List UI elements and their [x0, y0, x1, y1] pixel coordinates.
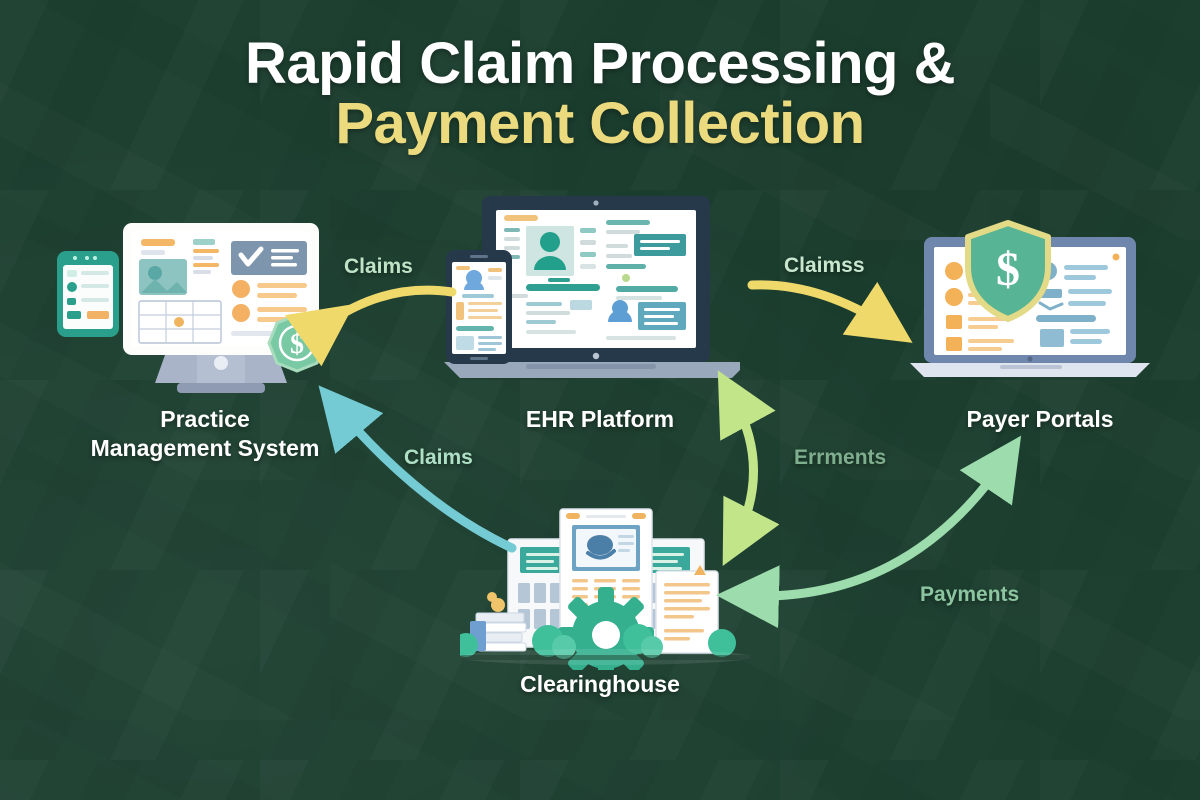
- node-label-practice-management-system: PracticeManagement System: [20, 405, 390, 464]
- laptop-ehr-icon: [430, 190, 740, 395]
- node-label-payer-portals: Payer Portals: [860, 405, 1200, 434]
- desktop-monitor-icon: $: [45, 215, 335, 400]
- edge-label-clearinghouse-to-pms: Claims: [404, 446, 473, 470]
- page-title: Rapid Claim Processing & Payment Collect…: [0, 34, 1200, 155]
- node-label-ehr-platform: EHR Platform: [420, 405, 780, 434]
- edge-label-ehr-clearinghouse: Errments: [794, 446, 886, 470]
- buildings-gear-icon: [460, 495, 750, 670]
- arrow-ehr-to-payer: [752, 285, 890, 328]
- payer-portals-illustration: $: [890, 215, 1175, 400]
- arrow-payer-clearinghouse: [752, 458, 1006, 596]
- practice-management-system-illustration: $: [45, 215, 335, 400]
- ehr-platform-illustration: [430, 190, 740, 395]
- edge-label-payer-clearinghouse: Payments: [920, 583, 1019, 607]
- laptop-shield-icon: $: [890, 215, 1175, 400]
- clearinghouse-illustration: [460, 495, 750, 670]
- svg-text:$: $: [996, 243, 1020, 296]
- edge-label-ehr-to-pms: Claims: [344, 255, 413, 279]
- coin-badge-icon: $: [269, 315, 325, 371]
- svg-text:$: $: [290, 329, 304, 360]
- title-line-1: Rapid Claim Processing &: [0, 34, 1200, 94]
- infographic-canvas: Rapid Claim Processing & Payment Collect…: [0, 0, 1200, 800]
- edge-label-ehr-to-payer: Claimss: [784, 254, 865, 278]
- node-label-clearinghouse: Clearinghouse: [420, 670, 780, 699]
- title-line-2: Payment Collection: [0, 94, 1200, 154]
